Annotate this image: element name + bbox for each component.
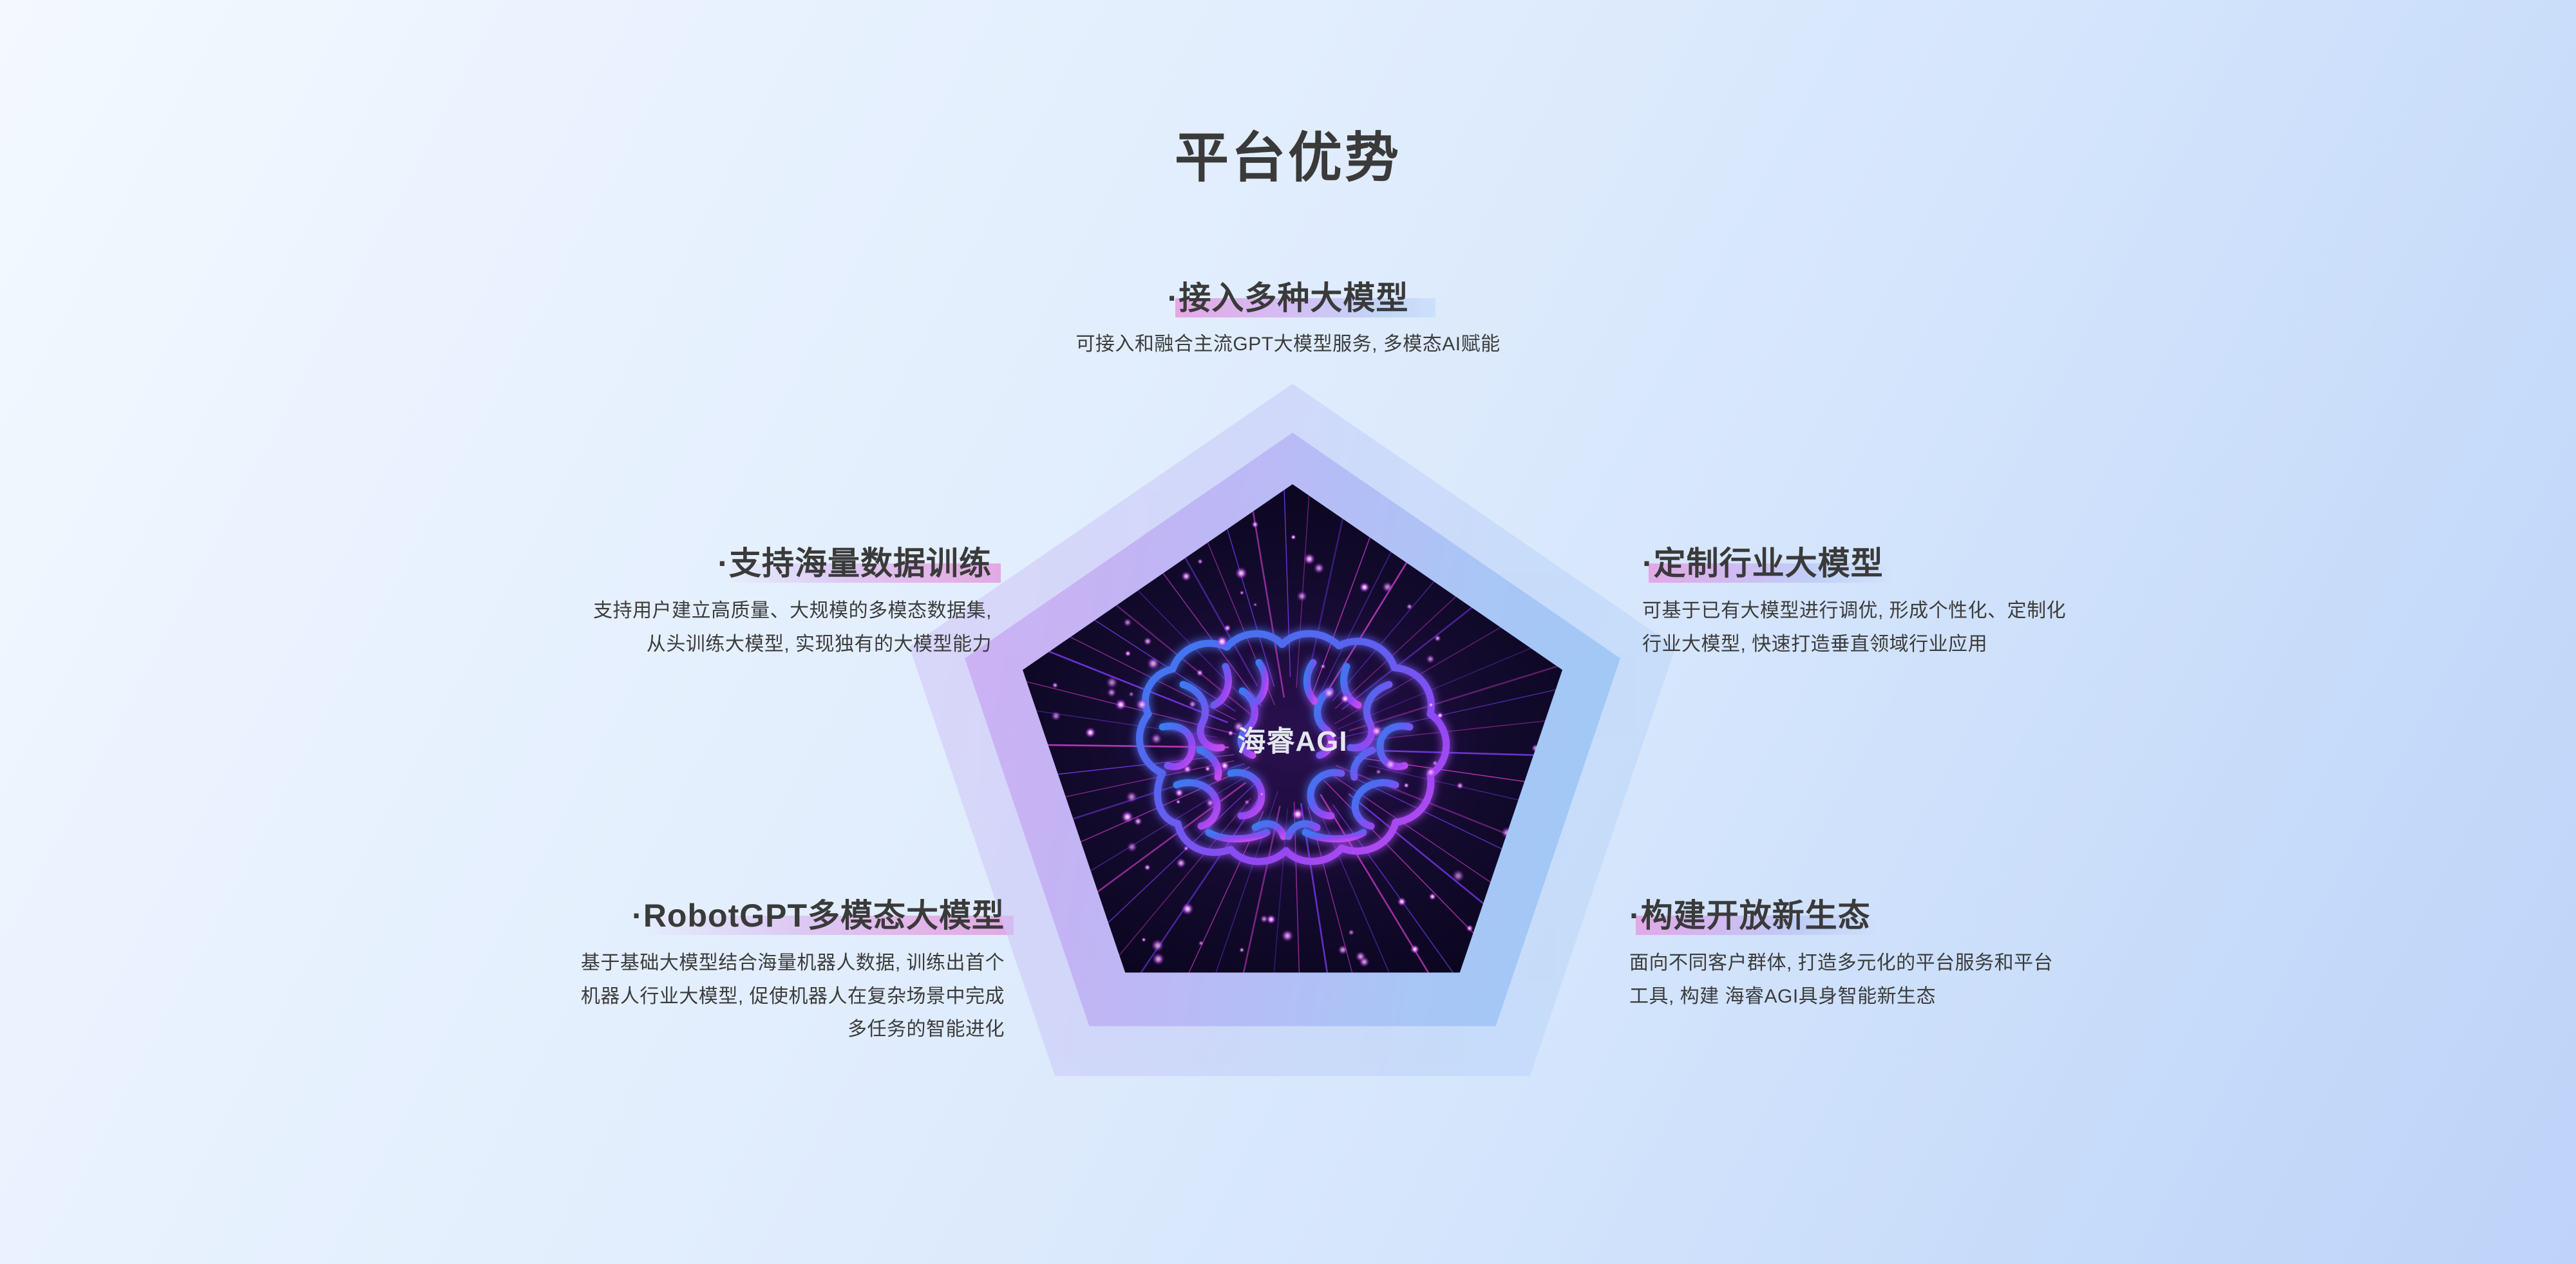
heading-text: 定制行业大模型 xyxy=(1654,545,1884,581)
bullet-marker: · xyxy=(1629,898,1641,934)
feature-left-top-heading: ·支持海量数据训练 xyxy=(717,546,992,584)
feature-right-top-body: 可基于已有大模型进行调优, 形成个性化、定制化 行业大模型, 快速打造垂直领域行… xyxy=(1642,594,2479,661)
bullet-marker: · xyxy=(1642,545,1654,581)
body-line: 可基于已有大模型进行调优, 形成个性化、定制化 xyxy=(1642,594,2479,628)
feature-left-bottom-heading: ·RobotGPT多模态大模型 xyxy=(632,898,1005,936)
feature-right-top: ·定制行业大模型 可基于已有大模型进行调优, 形成个性化、定制化 行业大模型, … xyxy=(1642,546,2479,661)
feature-left-bottom-body: 基于基础大模型结合海量机器人数据, 训练出首个 机器人行业大模型, 促使机器人在… xyxy=(167,947,1005,1046)
heading-text: 接入多种大模型 xyxy=(1179,280,1408,316)
heading-text: 支持海量数据训练 xyxy=(729,545,992,581)
bullet-marker: · xyxy=(1168,280,1179,316)
heading-text: 构建开放新生态 xyxy=(1641,898,1871,934)
feature-left-top: ·支持海量数据训练 支持用户建立高质量、大规模的多模态数据集, 从头训练大模型,… xyxy=(180,546,992,661)
body-line: 多任务的智能进化 xyxy=(167,1013,1005,1046)
body-line: 面向不同客户群体, 打造多元化的平台服务和平台 xyxy=(1629,947,2479,980)
page-title: 平台优势 xyxy=(0,115,2576,193)
body-line: 从头训练大模型, 实现独有的大模型能力 xyxy=(180,628,992,661)
body-line: 行业大模型, 快速打造垂直领域行业应用 xyxy=(1642,628,2479,661)
body-line: 机器人行业大模型, 促使机器人在复杂场景中完成 xyxy=(167,980,1005,1014)
feature-left-top-body: 支持用户建立高质量、大规模的多模态数据集, 从头训练大模型, 实现独有的大模型能… xyxy=(180,594,992,661)
bullet-marker: · xyxy=(632,898,643,934)
feature-top-heading: ·接入多种大模型 xyxy=(1168,281,1409,319)
feature-left-bottom: ·RobotGPT多模态大模型 基于基础大模型结合海量机器人数据, 训练出首个 … xyxy=(167,898,1005,1046)
feature-top-body: 可接入和融合主流GPT大模型服务, 多模态AI赋能 xyxy=(773,328,1803,361)
feature-top: ·接入多种大模型 可接入和融合主流GPT大模型服务, 多模态AI赋能 xyxy=(773,281,1803,361)
feature-right-bottom: ·构建开放新生态 面向不同客户群体, 打造多元化的平台服务和平台 工具, 构建 … xyxy=(1629,898,2479,1013)
feature-right-top-heading: ·定制行业大模型 xyxy=(1642,546,1884,584)
body-line: 可接入和融合主流GPT大模型服务, 多模态AI赋能 xyxy=(773,328,1803,361)
feature-right-bottom-heading: ·构建开放新生态 xyxy=(1629,898,1871,936)
bullet-marker: · xyxy=(717,545,729,581)
heading-text: RobotGPT多模态大模型 xyxy=(643,898,1005,934)
feature-right-bottom-body: 面向不同客户群体, 打造多元化的平台服务和平台 工具, 构建 海睿AGI具身智能… xyxy=(1629,947,2479,1013)
body-line: 支持用户建立高质量、大规模的多模态数据集, xyxy=(180,594,992,628)
pentagon-graphic: 海睿AGI xyxy=(909,384,1676,1105)
body-line: 工具, 构建 海睿AGI具身智能新生态 xyxy=(1629,980,2479,1014)
body-line: 基于基础大模型结合海量机器人数据, 训练出首个 xyxy=(167,947,1005,980)
